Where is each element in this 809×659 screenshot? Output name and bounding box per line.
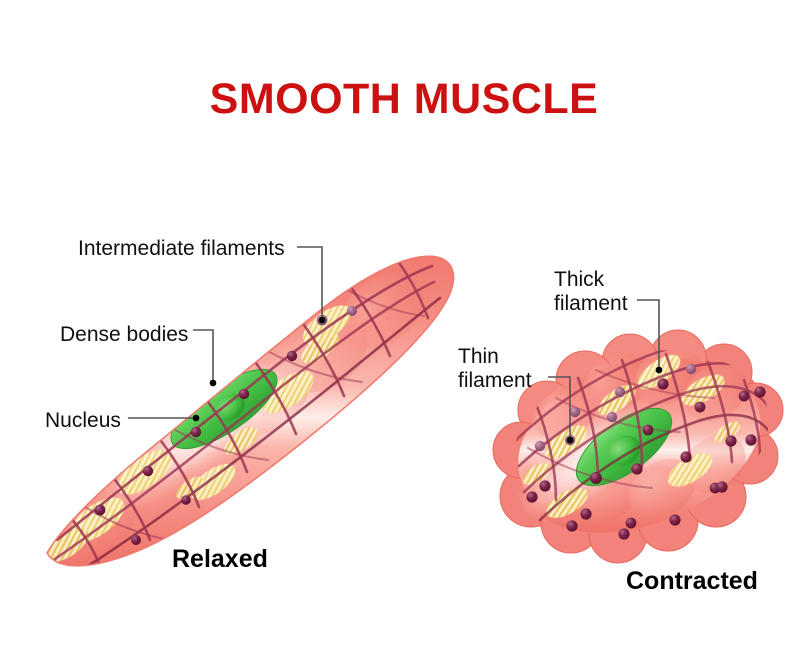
label-state-relaxed: Relaxed [172, 545, 268, 573]
label-state-contracted: Contracted [626, 567, 758, 595]
label-intermediate-filaments: Intermediate filaments [78, 237, 285, 260]
label-thick-filament-line2: filament [554, 292, 628, 315]
label-thin-filament-line1: Thin [458, 345, 499, 368]
label-dense-bodies: Dense bodies [60, 323, 188, 346]
page-title: SMOOTH MUSCLE [210, 75, 599, 123]
diagram-canvas: SMOOTH MUSCLE [0, 0, 809, 659]
label-thin-filament-line2: filament [458, 369, 532, 392]
label-thick-filament-line1: Thick [554, 268, 605, 291]
label-nucleus: Nucleus [45, 409, 121, 432]
